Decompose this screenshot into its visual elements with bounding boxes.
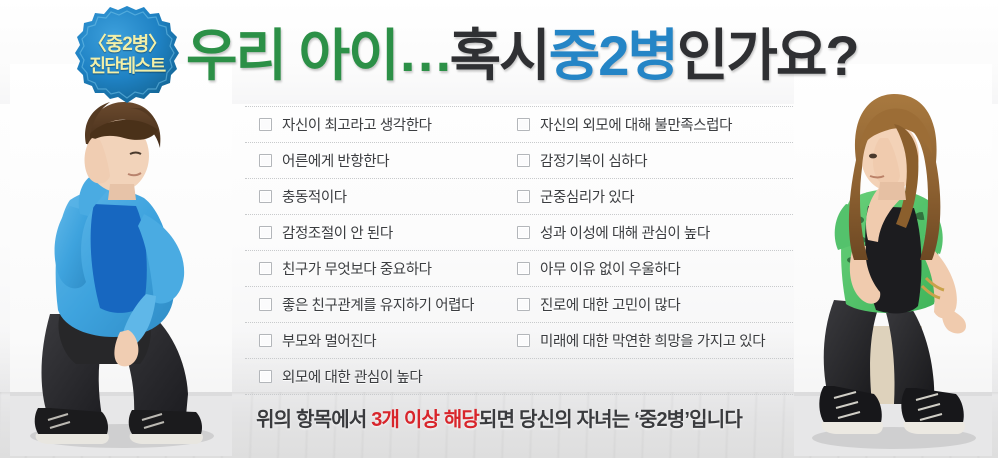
checkbox-icon[interactable] bbox=[259, 190, 272, 203]
table-row: 좋은 친구관계를 유지하기 어렵다 진로에 대한 고민이 많다 bbox=[245, 287, 793, 323]
checklist-item-label: 군중심리가 있다 bbox=[540, 186, 634, 207]
page-title: 우리 아이… 혹시 중2병인가요? bbox=[186, 8, 886, 94]
checklist-item[interactable]: 부모와 멀어진다 bbox=[245, 323, 503, 358]
checkbox-icon[interactable] bbox=[259, 298, 272, 311]
checklist-item-label: 부모와 멀어진다 bbox=[282, 330, 376, 351]
checklist-item[interactable]: 성과 이성에 대해 관심이 높다 bbox=[503, 215, 793, 250]
checklist-item[interactable]: 감정기복이 심하다 bbox=[503, 143, 793, 178]
checklist-item[interactable]: 좋은 친구관계를 유지하기 어렵다 bbox=[245, 287, 503, 322]
caption-prefix: 위의 항목에서 bbox=[256, 409, 371, 431]
checklist-item[interactable]: 충동적이다 bbox=[245, 179, 503, 214]
table-row: 친구가 무엇보다 중요하다 아무 이유 없이 우울하다 bbox=[245, 251, 793, 287]
checklist-item-empty bbox=[503, 359, 793, 394]
checkbox-icon[interactable] bbox=[259, 334, 272, 347]
checklist-item[interactable]: 감정조절이 안 된다 bbox=[245, 215, 503, 250]
table-row: 감정조절이 안 된다 성과 이성에 대해 관심이 높다 bbox=[245, 215, 793, 251]
result-caption: 위의 항목에서 3개 이상 해당되면 당신의 자녀는 ‘중2병’입니다 bbox=[0, 403, 998, 432]
diagnosis-test-badge: 〈중2병〉 진단테스트 bbox=[64, 6, 190, 104]
checklist-item[interactable]: 외모에 대한 관심이 높다 bbox=[245, 359, 503, 394]
table-row: 외모에 대한 관심이 높다 bbox=[245, 359, 793, 395]
checklist-item-label: 자신의 외모에 대해 불만족스럽다 bbox=[540, 114, 732, 135]
checkbox-icon[interactable] bbox=[259, 154, 272, 167]
checklist-item[interactable]: 자신의 외모에 대해 불만족스럽다 bbox=[503, 107, 793, 142]
checklist-item-label: 자신이 최고라고 생각한다 bbox=[282, 114, 432, 135]
checklist-item[interactable]: 어른에게 반항한다 bbox=[245, 143, 503, 178]
checkbox-icon[interactable] bbox=[517, 334, 530, 347]
table-row: 자신이 최고라고 생각한다 자신의 외모에 대해 불만족스럽다 bbox=[245, 106, 793, 143]
title-part-3: 인가요? bbox=[677, 11, 858, 92]
checklist-item-label: 충동적이다 bbox=[282, 186, 347, 207]
caption-suffix: 되면 당신의 자녀는 ‘중2병’입니다 bbox=[479, 409, 742, 431]
checkbox-icon[interactable] bbox=[517, 262, 530, 275]
checklist-item-label: 진로에 대한 고민이 많다 bbox=[540, 294, 680, 315]
checklist-item[interactable]: 친구가 무엇보다 중요하다 bbox=[245, 251, 503, 286]
checkbox-icon[interactable] bbox=[259, 118, 272, 131]
checklist-item[interactable]: 군중심리가 있다 bbox=[503, 179, 793, 214]
checklist-item-label: 외모에 대한 관심이 높다 bbox=[282, 366, 422, 387]
checklist-item[interactable]: 미래에 대한 막연한 희망을 가지고 있다 bbox=[503, 323, 793, 358]
checklist-item-label: 미래에 대한 막연한 희망을 가지고 있다 bbox=[540, 330, 765, 351]
title-highlight: 중2병 bbox=[549, 11, 677, 92]
table-row: 충동적이다 군중심리가 있다 bbox=[245, 179, 793, 215]
checkbox-icon[interactable] bbox=[517, 190, 530, 203]
symptom-checklist: 자신이 최고라고 생각한다 자신의 외모에 대해 불만족스럽다 어른에게 반항한… bbox=[245, 106, 793, 395]
checklist-item-label: 아무 이유 없이 우울하다 bbox=[540, 258, 680, 279]
checkbox-icon[interactable] bbox=[517, 154, 530, 167]
checkbox-icon[interactable] bbox=[517, 118, 530, 131]
title-part-1: 우리 아이 bbox=[186, 11, 398, 92]
checkbox-icon[interactable] bbox=[259, 262, 272, 275]
checklist-item-label: 감정기복이 심하다 bbox=[540, 150, 647, 171]
caption-emphasis: 3개 이상 해당 bbox=[371, 409, 479, 431]
checkbox-icon[interactable] bbox=[517, 226, 530, 239]
badge-line-2: 진단테스트 bbox=[89, 56, 164, 76]
checklist-item-label: 감정조절이 안 된다 bbox=[282, 222, 393, 243]
checkbox-icon[interactable] bbox=[259, 370, 272, 383]
checkbox-icon[interactable] bbox=[517, 298, 530, 311]
title-part-2: 혹시 bbox=[450, 11, 549, 92]
checkbox-icon[interactable] bbox=[259, 226, 272, 239]
sitting-teen-boy-photo bbox=[10, 64, 232, 456]
title-ellipsis: … bbox=[398, 19, 450, 84]
checklist-item-label: 어른에게 반항한다 bbox=[282, 150, 389, 171]
checklist-item[interactable]: 아무 이유 없이 우울하다 bbox=[503, 251, 793, 286]
badge-line-1: 〈중2병〉 bbox=[88, 34, 167, 55]
table-row: 부모와 멀어진다 미래에 대한 막연한 희망을 가지고 있다 bbox=[245, 323, 793, 359]
sitting-teen-girl-photo bbox=[794, 64, 992, 456]
poster-canvas: 〈중2병〉 진단테스트 우리 아이… 혹시 중2병인가요? 자신이 최고라고 생… bbox=[0, 0, 998, 458]
table-row: 어른에게 반항한다 감정기복이 심하다 bbox=[245, 143, 793, 179]
checklist-item-label: 좋은 친구관계를 유지하기 어렵다 bbox=[282, 294, 474, 315]
checklist-item-label: 친구가 무엇보다 중요하다 bbox=[282, 258, 432, 279]
checklist-item-label: 성과 이성에 대해 관심이 높다 bbox=[540, 222, 710, 243]
checklist-item[interactable]: 자신이 최고라고 생각한다 bbox=[245, 107, 503, 142]
checklist-item[interactable]: 진로에 대한 고민이 많다 bbox=[503, 287, 793, 322]
